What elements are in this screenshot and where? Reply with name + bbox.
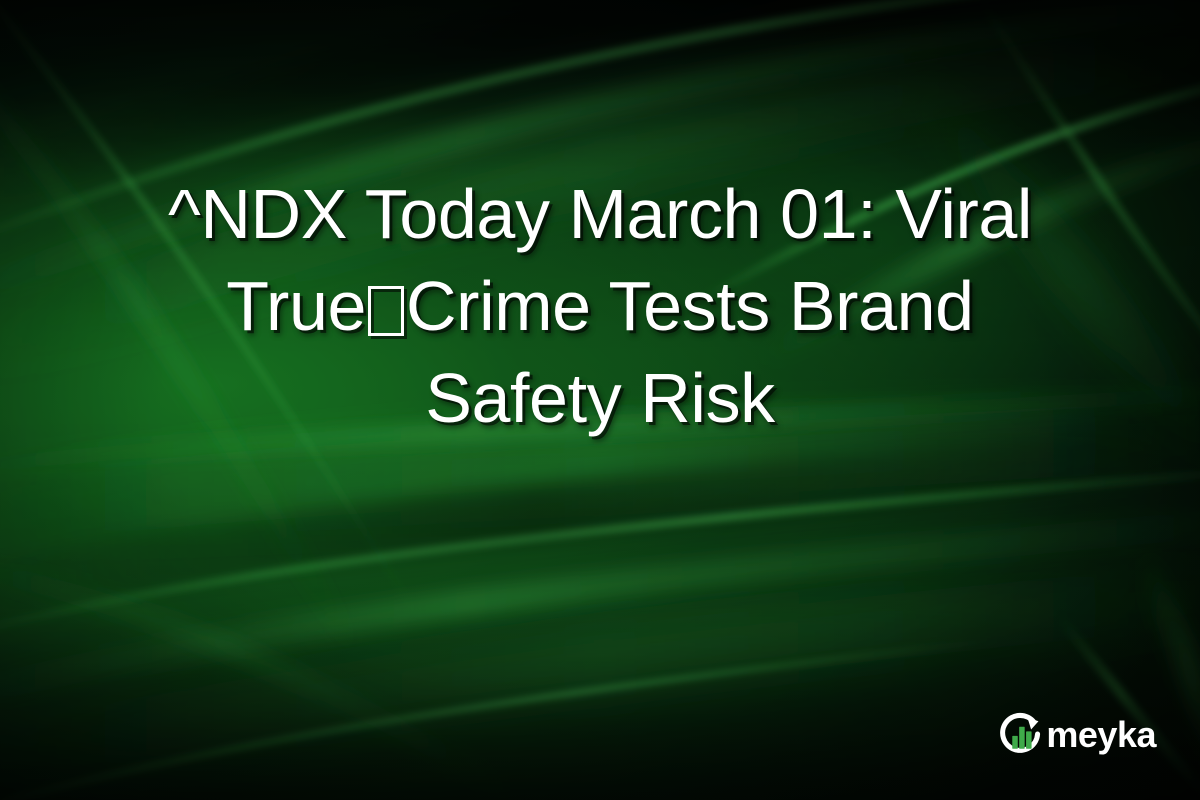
page-title: ^NDX Today March 01: ViralTrue□Crime Tes… [72, 168, 1128, 444]
brand-wordmark: meyka [1046, 717, 1156, 753]
meyka-bar-chart-ring-icon [998, 712, 1044, 758]
article-share-card: ^NDX Today March 01: ViralTrue□Crime Tes… [0, 0, 1200, 800]
headline-line-2-before: True [226, 267, 366, 345]
headline-block: ^NDX Today March 01: ViralTrue□Crime Tes… [0, 168, 1200, 444]
headline-line-1: ^NDX Today March 01: Viral [168, 175, 1032, 253]
headline-line-2-after: Crime Tests Brand [406, 267, 974, 345]
brand-logo[interactable]: meyka [998, 712, 1156, 758]
missing-glyph-box-icon: □ [368, 286, 404, 336]
headline-line-3: Safety Risk [425, 359, 775, 437]
